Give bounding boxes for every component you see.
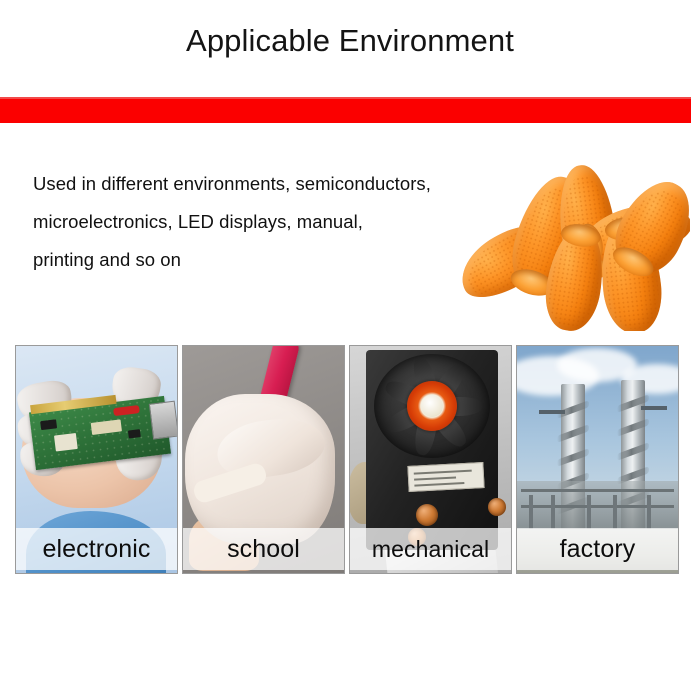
stack-spiral-strake bbox=[557, 424, 589, 443]
fan-hub-label bbox=[407, 381, 457, 431]
application-panel-strip: electronic school bbox=[15, 345, 685, 574]
intro-line-1: Used in different environments, semicond… bbox=[33, 165, 503, 203]
intro-line-3: printing and so on bbox=[33, 241, 503, 279]
copper-heatpipe bbox=[488, 498, 506, 516]
intro-line-2: microelectronics, LED displays, manual, bbox=[33, 203, 503, 241]
pcb-chip bbox=[54, 433, 78, 452]
cooling-fan bbox=[374, 354, 490, 458]
panel-label-factory: factory bbox=[517, 528, 678, 570]
pcb-chip bbox=[40, 419, 57, 430]
copper-heatpipe bbox=[416, 504, 438, 526]
panel-mechanical: mechanical bbox=[349, 345, 512, 574]
pipe-beam bbox=[521, 505, 674, 508]
finger-cots-product-photo bbox=[452, 163, 690, 331]
panel-school: school bbox=[182, 345, 345, 574]
spec-sticker bbox=[407, 462, 484, 492]
panel-label-electronic: electronic bbox=[16, 528, 177, 570]
stack-spiral-strake bbox=[557, 400, 589, 419]
stack-spiral-strake bbox=[617, 394, 649, 413]
panel-label-school: school bbox=[183, 528, 344, 570]
stack-spiral-strake bbox=[617, 442, 649, 461]
stack-spiral-strake bbox=[557, 448, 589, 467]
pipe-beam bbox=[521, 489, 674, 492]
panel-electronic: electronic bbox=[15, 345, 178, 574]
sticker-text-line bbox=[414, 482, 464, 487]
pcb-port-connector bbox=[149, 401, 178, 440]
panel-label-mechanical: mechanical bbox=[350, 528, 511, 570]
red-divider-bar bbox=[0, 97, 691, 123]
sticker-text-line bbox=[414, 476, 456, 480]
refinery-piping bbox=[517, 481, 678, 533]
sticker-text-line bbox=[414, 470, 472, 475]
panel-factory: factory bbox=[516, 345, 679, 574]
intro-paragraph: Used in different environments, semicond… bbox=[33, 165, 503, 279]
stack-spiral-strake bbox=[617, 418, 649, 437]
pcb-chip bbox=[128, 429, 141, 438]
stack-arm bbox=[641, 406, 667, 410]
page-title: Applicable Environment bbox=[0, 21, 700, 61]
